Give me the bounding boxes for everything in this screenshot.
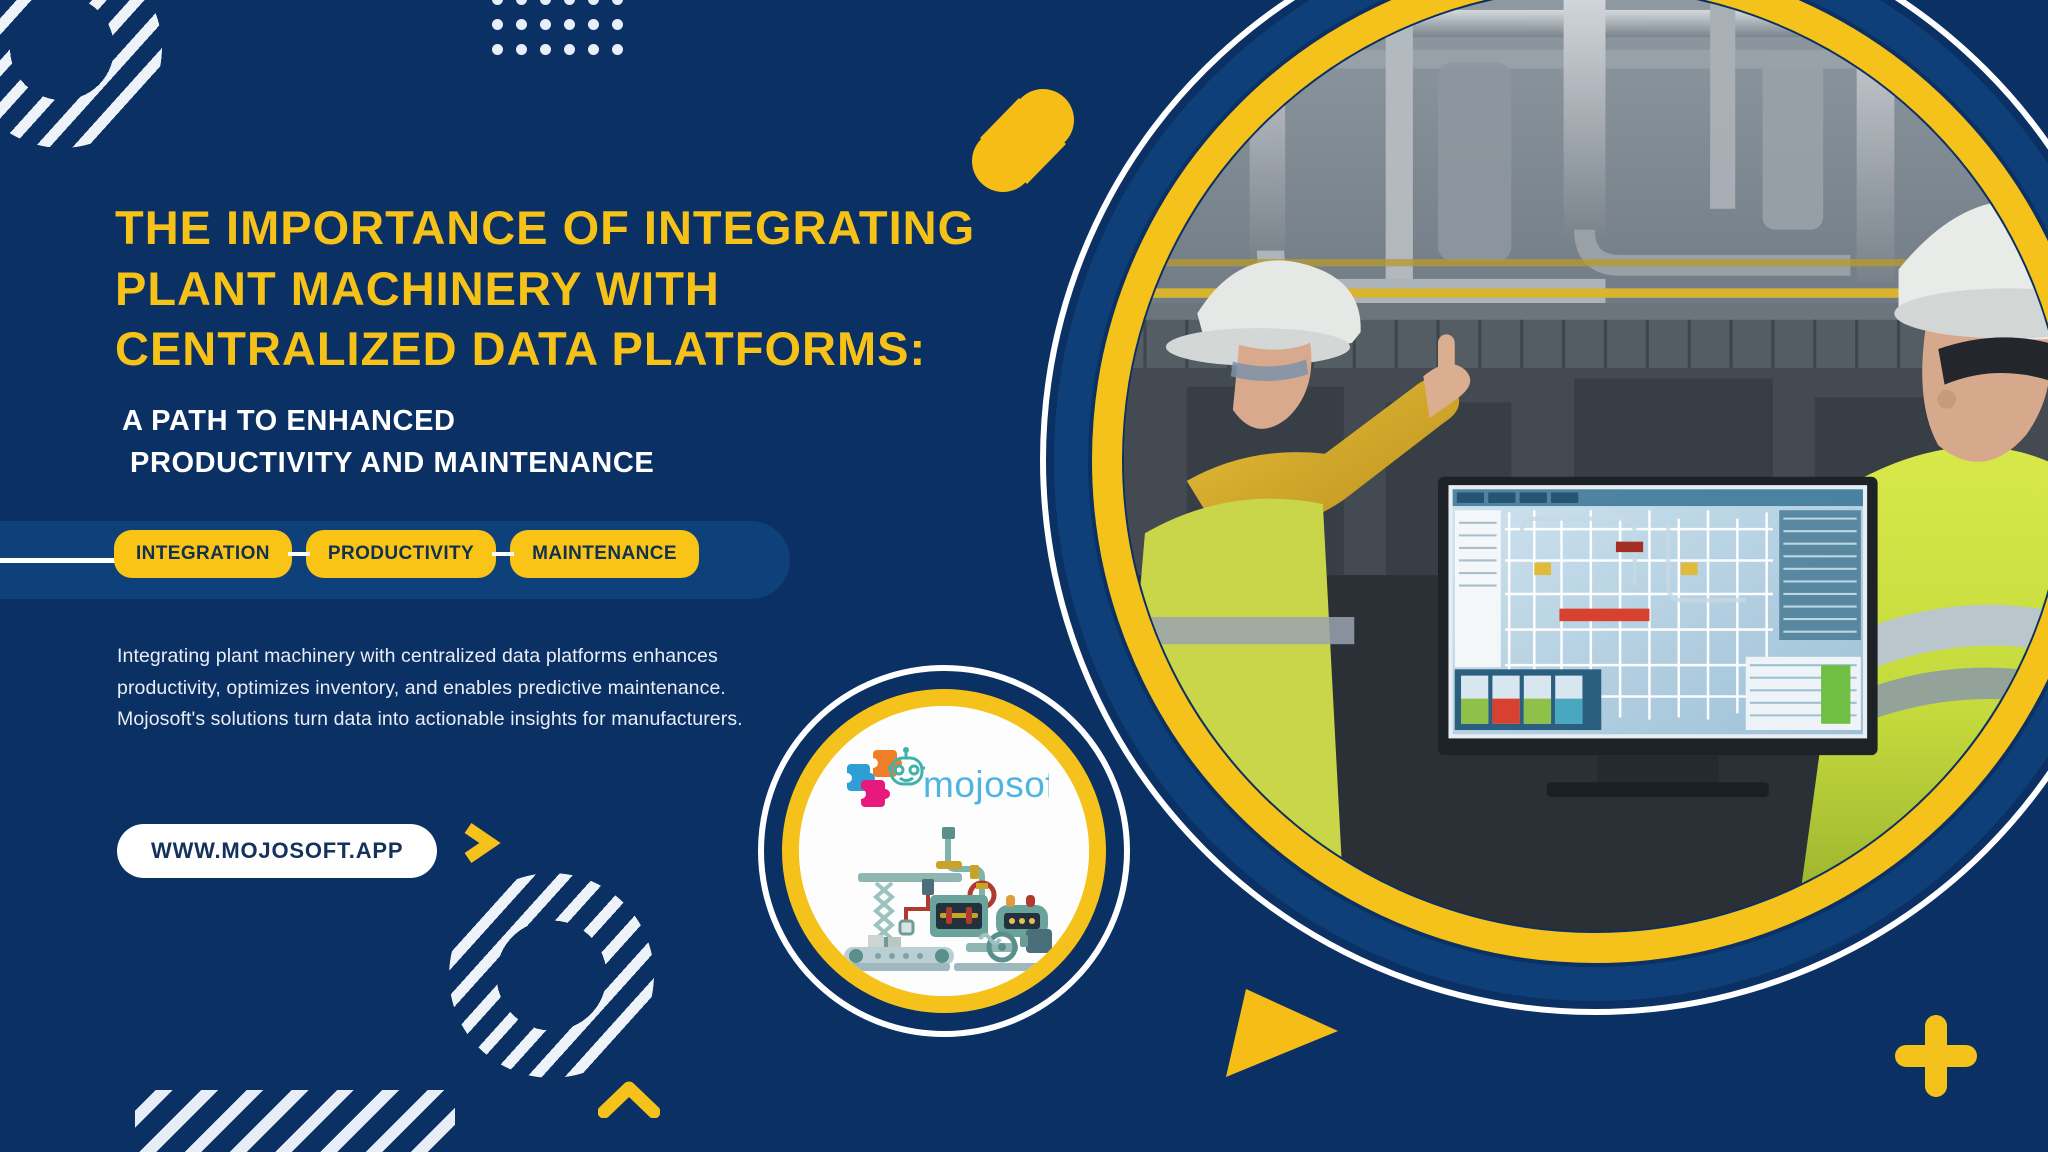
industrial-plant-engineers-photo bbox=[1124, 0, 2048, 931]
page-title: THE IMPORTANCE OF INTEGRATING PLANT MACH… bbox=[115, 198, 1015, 380]
subheadline-line-2: PRODUCTIVITY AND MAINTENANCE bbox=[122, 442, 882, 484]
tag-list: INTEGRATION PRODUCTIVITY MAINTENANCE bbox=[114, 530, 699, 578]
plus-icon bbox=[1890, 1010, 1982, 1102]
puzzle-robot-icon: mojosoft bbox=[839, 744, 1049, 815]
headline-line-2: PLANT MACHINERY WITH bbox=[115, 259, 1015, 320]
body-line-1: Integrating plant machinery with central… bbox=[117, 641, 777, 673]
hero-photo-circle bbox=[1040, 0, 2048, 1015]
page-subtitle: A PATH TO ENHANCED PRODUCTIVITY AND MAIN… bbox=[122, 400, 882, 484]
tag-strip: INTEGRATION PRODUCTIVITY MAINTENANCE bbox=[0, 521, 790, 599]
subheadline-line-1: A PATH TO ENHANCED bbox=[122, 400, 882, 442]
body-paragraph: Integrating plant machinery with central… bbox=[117, 641, 777, 736]
tag-maintenance[interactable]: MAINTENANCE bbox=[510, 530, 699, 578]
factory-machinery-icon bbox=[830, 821, 1058, 976]
body-line-3: Mojosoft's solutions turn data into acti… bbox=[117, 704, 777, 736]
headline-line-3: CENTRALIZED DATA PLATFORMS: bbox=[115, 319, 1015, 380]
tag-integration[interactable]: INTEGRATION bbox=[114, 530, 292, 578]
svg-text:mojosoft: mojosoft bbox=[923, 764, 1049, 805]
website-url-button[interactable]: WWW.MOJOSOFT.APP bbox=[117, 824, 437, 878]
headline-line-1: THE IMPORTANCE OF INTEGRATING bbox=[115, 198, 1015, 259]
banner-root: THE IMPORTANCE OF INTEGRATING PLANT MACH… bbox=[0, 0, 2048, 1152]
body-line-2: productivity, optimizes inventory, and e… bbox=[117, 673, 777, 705]
tag-productivity[interactable]: PRODUCTIVITY bbox=[306, 530, 496, 578]
